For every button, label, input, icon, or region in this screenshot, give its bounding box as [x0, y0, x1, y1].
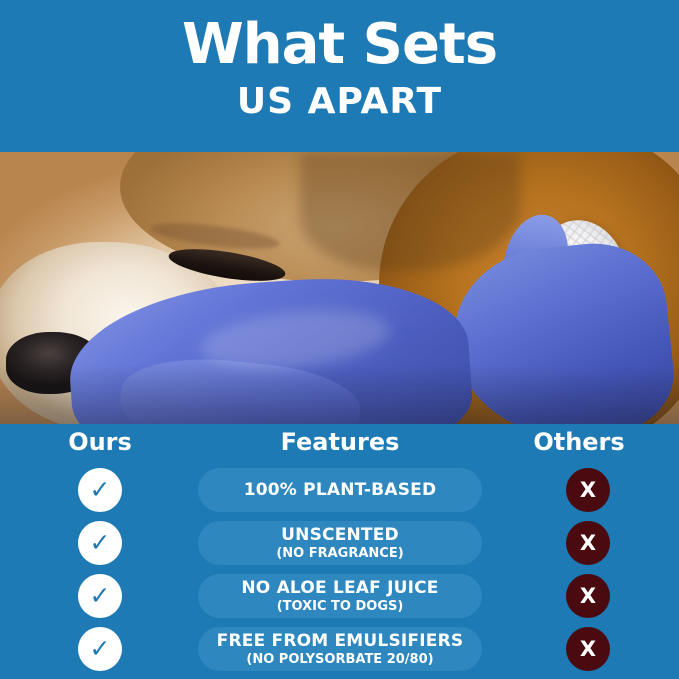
feature-pill: UNSCENTED (NO FRAGRANCE)	[198, 521, 482, 565]
column-header-features: Features	[190, 428, 490, 456]
table-row: ✓ 100% PLANT-BASED X	[0, 468, 679, 514]
page-subtitle: US APART	[0, 82, 679, 122]
header-banner: What Sets US APART	[0, 0, 679, 152]
table-row: ✓ UNSCENTED (NO FRAGRANCE) X	[0, 521, 679, 567]
ours-check-icon: ✓	[78, 468, 122, 512]
feature-sublabel: (TOXIC TO DOGS)	[277, 599, 404, 614]
feature-pill: 100% PLANT-BASED	[198, 468, 482, 512]
feature-label: UNSCENTED	[281, 526, 399, 545]
others-x-icon: X	[566, 574, 610, 618]
feature-label: FREE FROM EMULSIFIERS	[217, 632, 464, 651]
column-header-others: Others	[489, 428, 669, 456]
page-title: What Sets	[0, 16, 679, 74]
others-x-icon: X	[566, 627, 610, 671]
feature-sublabel: (NO POLYSORBATE 20/80)	[246, 652, 433, 667]
table-row: ✓ NO ALOE LEAF JUICE (TOXIC TO DOGS) X	[0, 574, 679, 620]
column-header-ours: Ours	[10, 428, 190, 456]
others-x-icon: X	[566, 468, 610, 512]
table-row: ✓ FREE FROM EMULSIFIERS (NO POLYSORBATE …	[0, 627, 679, 673]
photo-bottom-shadow	[0, 364, 679, 424]
feature-sublabel: (NO FRAGRANCE)	[276, 546, 403, 561]
feature-label: 100% PLANT-BASED	[244, 481, 437, 500]
ours-check-icon: ✓	[78, 574, 122, 618]
feature-label: NO ALOE LEAF JUICE	[241, 579, 438, 598]
feature-pill: NO ALOE LEAF JUICE (TOXIC TO DOGS)	[198, 574, 482, 618]
ours-check-icon: ✓	[78, 627, 122, 671]
product-photo	[0, 152, 679, 424]
feature-pill: FREE FROM EMULSIFIERS (NO POLYSORBATE 20…	[198, 627, 482, 671]
others-x-icon: X	[566, 521, 610, 565]
product-infographic: What Sets US APART Ours Features Others …	[0, 0, 679, 679]
comparison-table: Ours Features Others ✓ 100% PLANT-BASED …	[0, 424, 679, 679]
ours-check-icon: ✓	[78, 521, 122, 565]
